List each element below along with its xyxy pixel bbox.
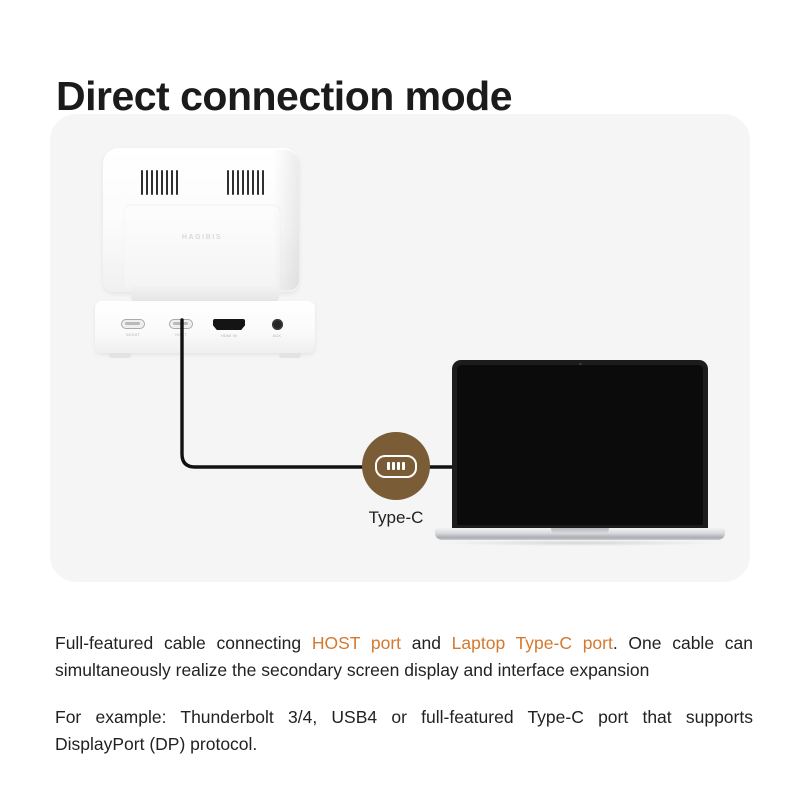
camera-icon xyxy=(579,363,582,366)
port-aux[interactable]: AUX xyxy=(254,319,300,338)
dock-ports-row: IN/OUT HOST HDMI IN AUX xyxy=(95,319,315,338)
laptop-screen xyxy=(457,365,703,525)
vent-slot xyxy=(171,170,173,195)
highlight-host-port: HOST port xyxy=(312,633,401,653)
vent-slot xyxy=(247,170,249,195)
dock-foot-right xyxy=(279,353,301,358)
port-label: IN/OUT xyxy=(110,333,156,337)
dock-device: HAGIBIS IN/OUT HOST HDMI IN xyxy=(95,148,315,382)
vent-slot xyxy=(242,170,244,195)
port-hdmi-in[interactable]: HDMI IN xyxy=(206,319,252,338)
laptop-lid xyxy=(452,360,708,530)
aux-port-icon xyxy=(272,319,283,330)
vent-slot xyxy=(156,170,158,195)
vent-slot xyxy=(227,170,229,195)
laptop-shadow xyxy=(441,540,719,546)
usb-c-connector-icon xyxy=(375,455,417,478)
vent-slot xyxy=(166,170,168,195)
port-in-out[interactable]: IN/OUT xyxy=(110,319,156,337)
laptop-device xyxy=(435,360,725,550)
vent-slot xyxy=(252,170,254,195)
connector-pin xyxy=(392,462,395,470)
vent-slot xyxy=(146,170,148,195)
vent-slot xyxy=(232,170,234,195)
port-label: HOST xyxy=(158,333,204,337)
description-block: Full-featured cable connecting HOST port… xyxy=(55,612,753,775)
vent-slot xyxy=(262,170,264,195)
hdmi-port-icon xyxy=(213,319,245,330)
vent-group-left xyxy=(141,170,178,195)
dock-foot-left xyxy=(109,353,131,358)
type-c-badge xyxy=(362,432,430,500)
description-paragraph-2: For example: Thunderbolt 3/4, USB4 or fu… xyxy=(55,704,753,758)
vent-slot xyxy=(141,170,143,195)
dock-base: IN/OUT HOST HDMI IN AUX xyxy=(95,301,315,353)
port-label: AUX xyxy=(254,334,300,338)
illustration-panel: HAGIBIS IN/OUT HOST HDMI IN xyxy=(50,114,750,582)
usb-c-port-icon xyxy=(121,319,145,329)
paragraph1-segment-2: and xyxy=(401,633,452,653)
paragraph1-segment-1: Full-featured cable connecting xyxy=(55,633,312,653)
connector-pin xyxy=(387,462,390,470)
brand-logo: HAGIBIS xyxy=(123,234,281,241)
connector-pin xyxy=(397,462,400,470)
dock-monitor-shell: HAGIBIS xyxy=(103,148,299,292)
dock-inner-panel: HAGIBIS xyxy=(123,204,281,288)
description-paragraph-1: Full-featured cable connecting HOST port… xyxy=(55,630,753,684)
laptop-lid-notch xyxy=(551,528,609,533)
vent-slot xyxy=(257,170,259,195)
usb-c-port-icon xyxy=(169,319,193,329)
connector-pin xyxy=(402,462,405,470)
vent-slot xyxy=(237,170,239,195)
vent-slot xyxy=(176,170,178,195)
port-label: HDMI IN xyxy=(206,334,252,338)
port-host[interactable]: HOST xyxy=(158,319,204,337)
highlight-laptop-type-c-port: Laptop Type-C port xyxy=(452,633,613,653)
vent-slot xyxy=(151,170,153,195)
vent-group-right xyxy=(227,170,264,195)
vent-slot xyxy=(161,170,163,195)
